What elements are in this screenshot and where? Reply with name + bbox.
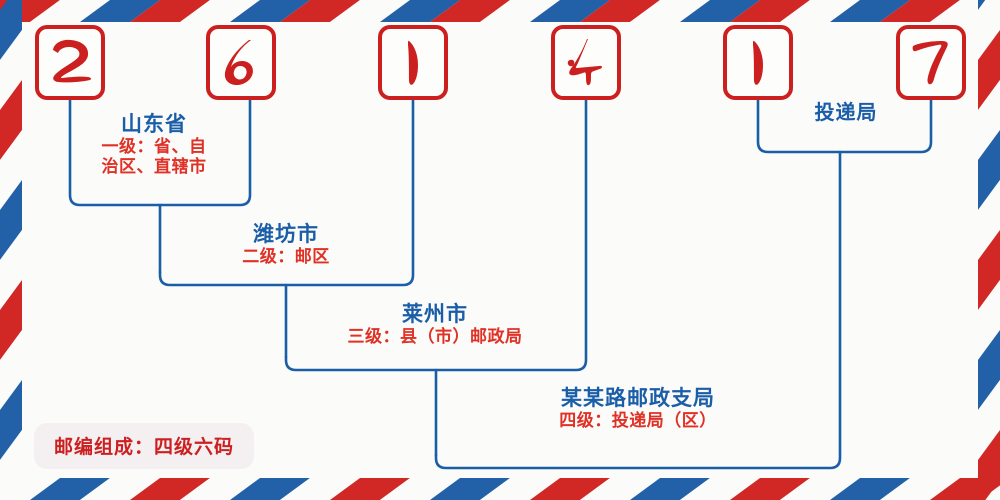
level-3-sub: 三级：县（市）邮政局 xyxy=(282,327,588,347)
level-1-title: 山东省 xyxy=(68,112,240,137)
digit-box-3[interactable] xyxy=(378,25,448,100)
digit-box-1[interactable] xyxy=(35,25,105,100)
digit-box-2[interactable] xyxy=(206,25,276,100)
level-1-sub: 一级：省、自 治区、直辖市 xyxy=(68,137,240,177)
digit-box-5[interactable] xyxy=(723,25,793,100)
label-group-delivery-office: 投递局 xyxy=(760,102,932,126)
digit-glyph-4 xyxy=(558,34,614,92)
digit-box-4[interactable] xyxy=(551,25,621,100)
level-3-title: 莱州市 xyxy=(282,302,588,327)
level-1-sub-line-1: 一级：省、自 xyxy=(68,137,240,157)
level-4-sub-line-1: 四级：投递局（区） xyxy=(452,411,824,431)
level-3-sub-line-1: 三级：县（市）邮政局 xyxy=(282,327,588,347)
digit-glyph-1-b xyxy=(385,34,441,92)
level-4-sub: 四级：投递局（区） xyxy=(452,411,824,431)
level-4-title: 某某路邮政支局 xyxy=(452,386,824,411)
level-2-sub-line-1: 二级：邮区 xyxy=(160,247,412,267)
digit-glyph-1 xyxy=(42,34,98,92)
level-1-sub-line-2: 治区、直辖市 xyxy=(68,157,240,177)
status-badge: 邮编组成：四级六码 xyxy=(34,423,254,469)
label-group-level-1: 山东省 一级：省、自 治区、直辖市 xyxy=(68,112,240,177)
label-group-level-3: 莱州市 三级：县（市）邮政局 xyxy=(282,302,588,347)
digit-glyph-7 xyxy=(903,34,959,92)
digit-box-6[interactable] xyxy=(896,25,966,100)
postcode-structure-diagram: 山东省 一级：省、自 治区、直辖市 潍坊市 二级：邮区 莱州市 三级：县（市）邮… xyxy=(0,0,1000,500)
digit-glyph-6 xyxy=(213,34,269,92)
delivery-office-title: 投递局 xyxy=(760,102,932,126)
level-2-title: 潍坊市 xyxy=(160,222,412,247)
digit-glyph-1-c xyxy=(730,34,786,92)
level-2-sub: 二级：邮区 xyxy=(160,247,412,267)
label-group-level-4: 某某路邮政支局 四级：投递局（区） xyxy=(452,386,824,431)
label-group-level-2: 潍坊市 二级：邮区 xyxy=(160,222,412,267)
